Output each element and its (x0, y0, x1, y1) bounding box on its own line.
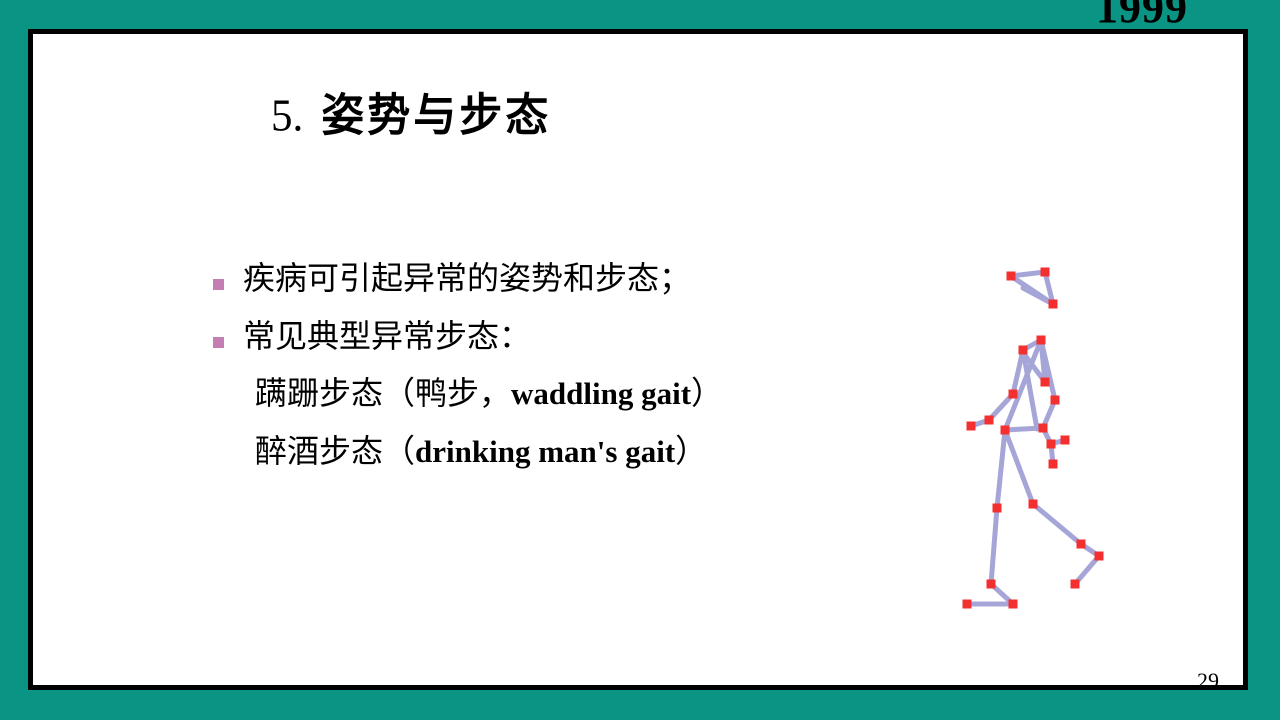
figure-joint-marker (1001, 426, 1010, 435)
list-item: 疾病可引起异常的姿势和步态； (213, 262, 853, 296)
list-item: 常见典型异常步态： (213, 320, 853, 354)
figure-limb-segment (991, 508, 997, 584)
list-item-label: 疾病可引起异常的姿势和步态； (243, 262, 691, 296)
figure-joint-marker (1051, 396, 1060, 405)
bullet-slot (225, 377, 255, 394)
bullet-slot (213, 262, 243, 290)
list-item-label-en: drinking man's gait (415, 434, 675, 469)
figure-joint-marker (1061, 436, 1070, 445)
figure-joint-marker (1077, 540, 1086, 549)
figure-limb-segment (1005, 430, 1033, 504)
bullet-slot (225, 435, 255, 452)
clipped-header-text: 1999 (1096, 0, 1188, 30)
figure-limb-segment (1033, 504, 1081, 544)
list-item: 醉酒步态（drinking man's gait） (213, 435, 853, 469)
figure-limb-segment (1005, 428, 1043, 430)
slide-frame: 5. 姿势与步态 疾病可引起异常的姿势和步态； 常见典型异常步态： 蹒跚步态（鸭… (28, 29, 1248, 690)
list-item-label: 醉酒步态（drinking man's gait） (255, 435, 707, 469)
square-bullet-icon (213, 279, 224, 290)
figure-joint-marker (987, 580, 996, 589)
list-item-label: 蹒跚步态（鸭步，waddling gait） (255, 377, 723, 411)
figure-joint-marker (1007, 272, 1016, 281)
figure-joint-marker (1037, 336, 1046, 345)
figure-joint-marker (963, 600, 972, 609)
list-item-label-en: waddling gait (511, 376, 691, 411)
figure-joint-marker (1019, 346, 1028, 355)
figure-joint-marker (1049, 460, 1058, 469)
list-item-label-cn-suffix: ） (675, 432, 707, 470)
figure-joint-marker (1009, 390, 1018, 399)
list-item-label-cn-prefix: 醉酒步态（ (255, 432, 415, 470)
title-text: 姿势与步态 (321, 90, 551, 143)
list-item-label-cn-suffix: ） (691, 374, 723, 412)
page-title: 5. 姿势与步态 (271, 79, 551, 144)
figure-joint-marker (1039, 424, 1048, 433)
figure-joint-marker (1095, 552, 1104, 561)
bullet-slot (213, 320, 243, 348)
figure-joint-marker (1049, 300, 1058, 309)
figure-joint-marker (993, 504, 1002, 513)
figure-limb-segment (1011, 272, 1045, 276)
list-item: 蹒跚步态（鸭步，waddling gait） (213, 377, 853, 411)
figure-joint-marker (985, 416, 994, 425)
page-number: 29 (1197, 668, 1219, 690)
figure-joint-marker (967, 422, 976, 431)
figure-joint-marker (1041, 268, 1050, 277)
list-item-label: 常见典型异常步态： (243, 320, 531, 354)
square-bullet-icon (213, 337, 224, 348)
figure-limb-segment (1011, 276, 1043, 298)
figure-joint-marker (1009, 600, 1018, 609)
figure-joint-marker (1071, 580, 1080, 589)
walking-stick-figure-image (893, 254, 1133, 664)
stick-figure-svg (893, 254, 1133, 664)
figure-joint-marker (1029, 500, 1038, 509)
title-number: 5. (271, 92, 303, 141)
figure-limb-segment (997, 430, 1005, 508)
figure-joint-marker (1041, 378, 1050, 387)
figure-joint-marker (1047, 440, 1056, 449)
bullet-list: 疾病可引起异常的姿势和步态； 常见典型异常步态： 蹒跚步态（鸭步，waddlin… (213, 262, 853, 492)
list-item-label-cn-prefix: 蹒跚步态（鸭步， (255, 374, 511, 412)
